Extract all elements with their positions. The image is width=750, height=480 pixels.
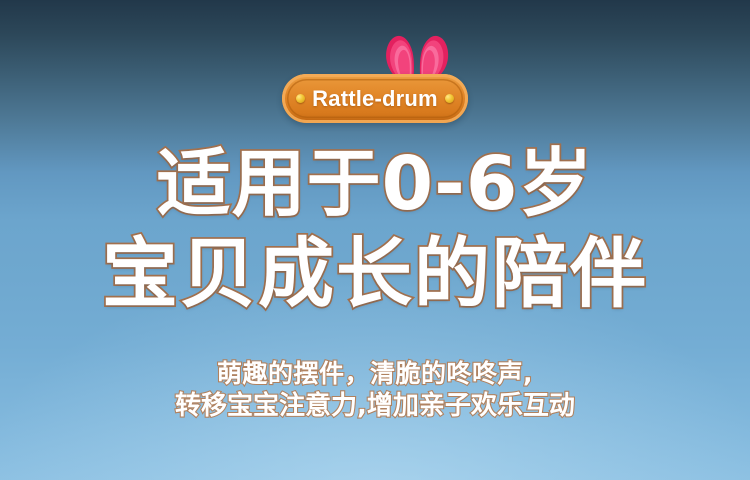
badge-dot-right-icon [445,94,454,103]
headline-line-1: 适用于0-6岁 [0,139,750,229]
subtitle-line-1: 萌趣的摆件，清脆的咚咚声, [0,357,750,390]
subtitle-block: 萌趣的摆件，清脆的咚咚声, 转移宝宝注意力,增加亲子欢乐互动 [0,357,750,423]
promo-banner: Rattle-drum 适用于0-6岁 宝贝成长的陪伴 萌趣的摆件，清脆的咚咚声… [0,0,750,480]
subtitle-line-2: 转移宝宝注意力,增加亲子欢乐互动 [0,390,750,423]
badge-dot-left-icon [296,94,305,103]
badge-label: Rattle-drum [312,88,438,110]
brand-badge[interactable]: Rattle-drum [282,74,468,123]
headline-line-2: 宝贝成长的陪伴 [0,229,750,319]
headline-block: 适用于0-6岁 宝贝成长的陪伴 [0,139,750,319]
